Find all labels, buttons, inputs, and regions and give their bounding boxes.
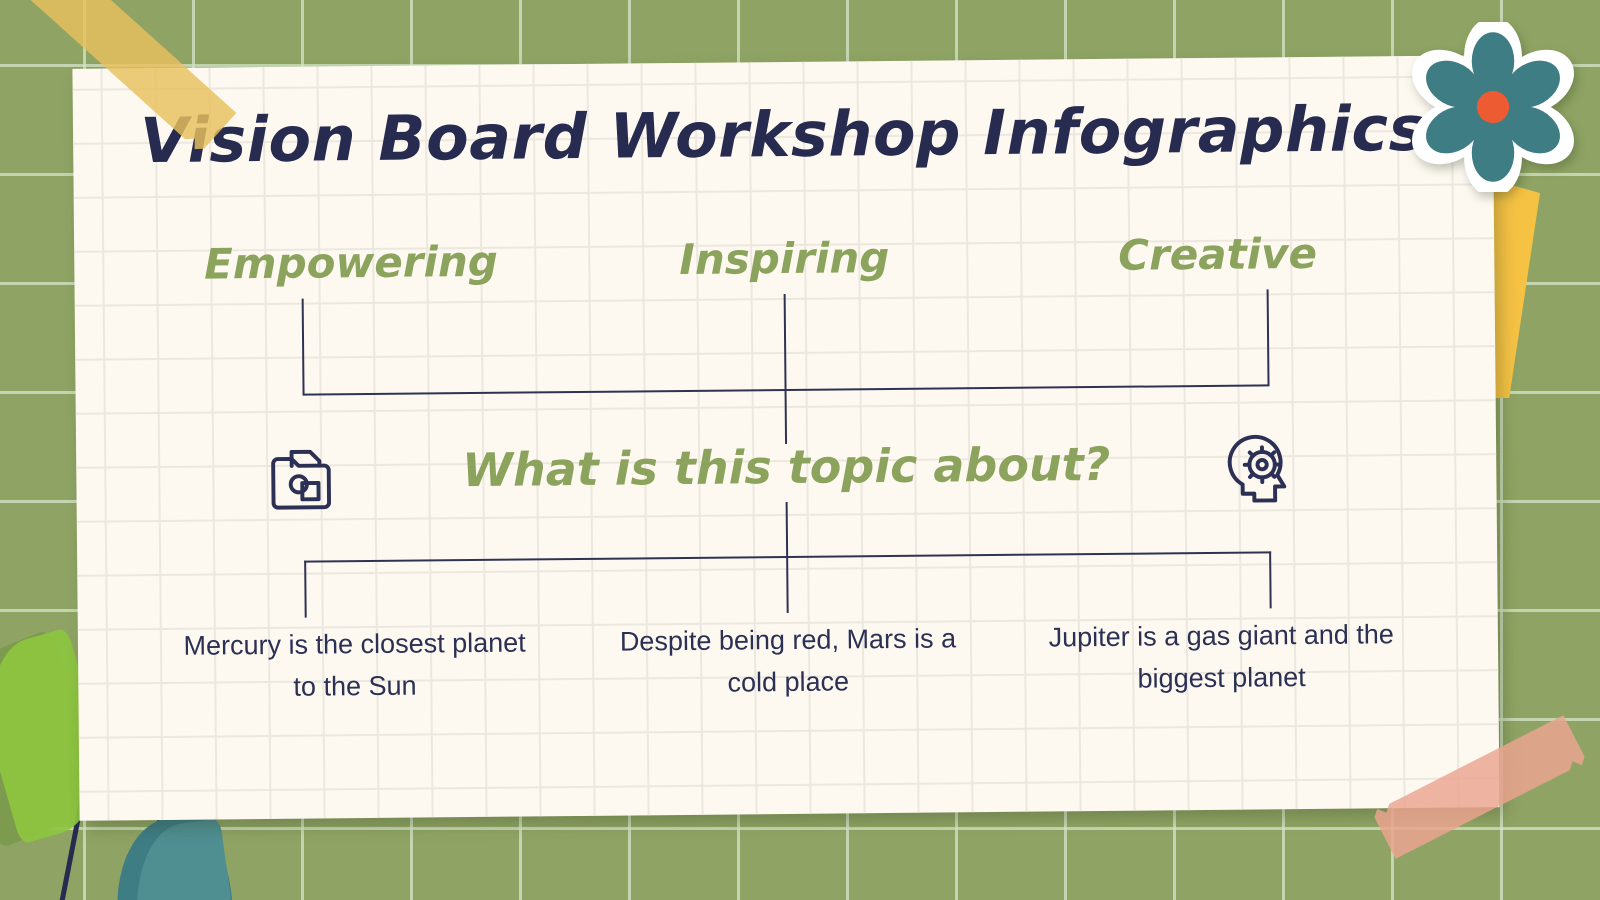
column-captions-row: Mercury is the closest planet to the Sun…: [138, 614, 1439, 710]
column-caption-mars: Despite being red, Mars is a cold place: [571, 618, 1005, 706]
bracket-drop-center: [785, 389, 788, 444]
column-labels-row: Empowering Inspiring Creative: [134, 228, 1434, 289]
bracket-stub-right: [1269, 551, 1272, 608]
slide-canvas: Vision Board Workshop Infographics Empow…: [0, 0, 1600, 900]
bracket-stub-center: [784, 294, 787, 390]
bracket-stub-center: [786, 556, 789, 613]
column-caption-jupiter: Jupiter is a gas giant and the biggest p…: [1004, 614, 1438, 702]
page-title: Vision Board Workshop Infographics: [73, 91, 1494, 178]
bracket-stub-left: [304, 561, 307, 618]
bracket-stub-right: [1267, 289, 1270, 385]
bracket-rise-center: [786, 502, 789, 557]
top-bracket-connector: [75, 287, 1496, 451]
column-label-inspiring: Inspiring: [567, 232, 1001, 285]
bracket-stub-left: [302, 299, 305, 395]
column-label-empowering: Empowering: [134, 236, 568, 289]
flower-sticker: [1408, 22, 1578, 192]
column-caption-mercury: Mercury is the closest planet to the Sun: [138, 622, 572, 710]
column-label-creative: Creative: [1001, 228, 1435, 281]
paper-sheet: Vision Board Workshop Infographics Empow…: [72, 55, 1499, 821]
